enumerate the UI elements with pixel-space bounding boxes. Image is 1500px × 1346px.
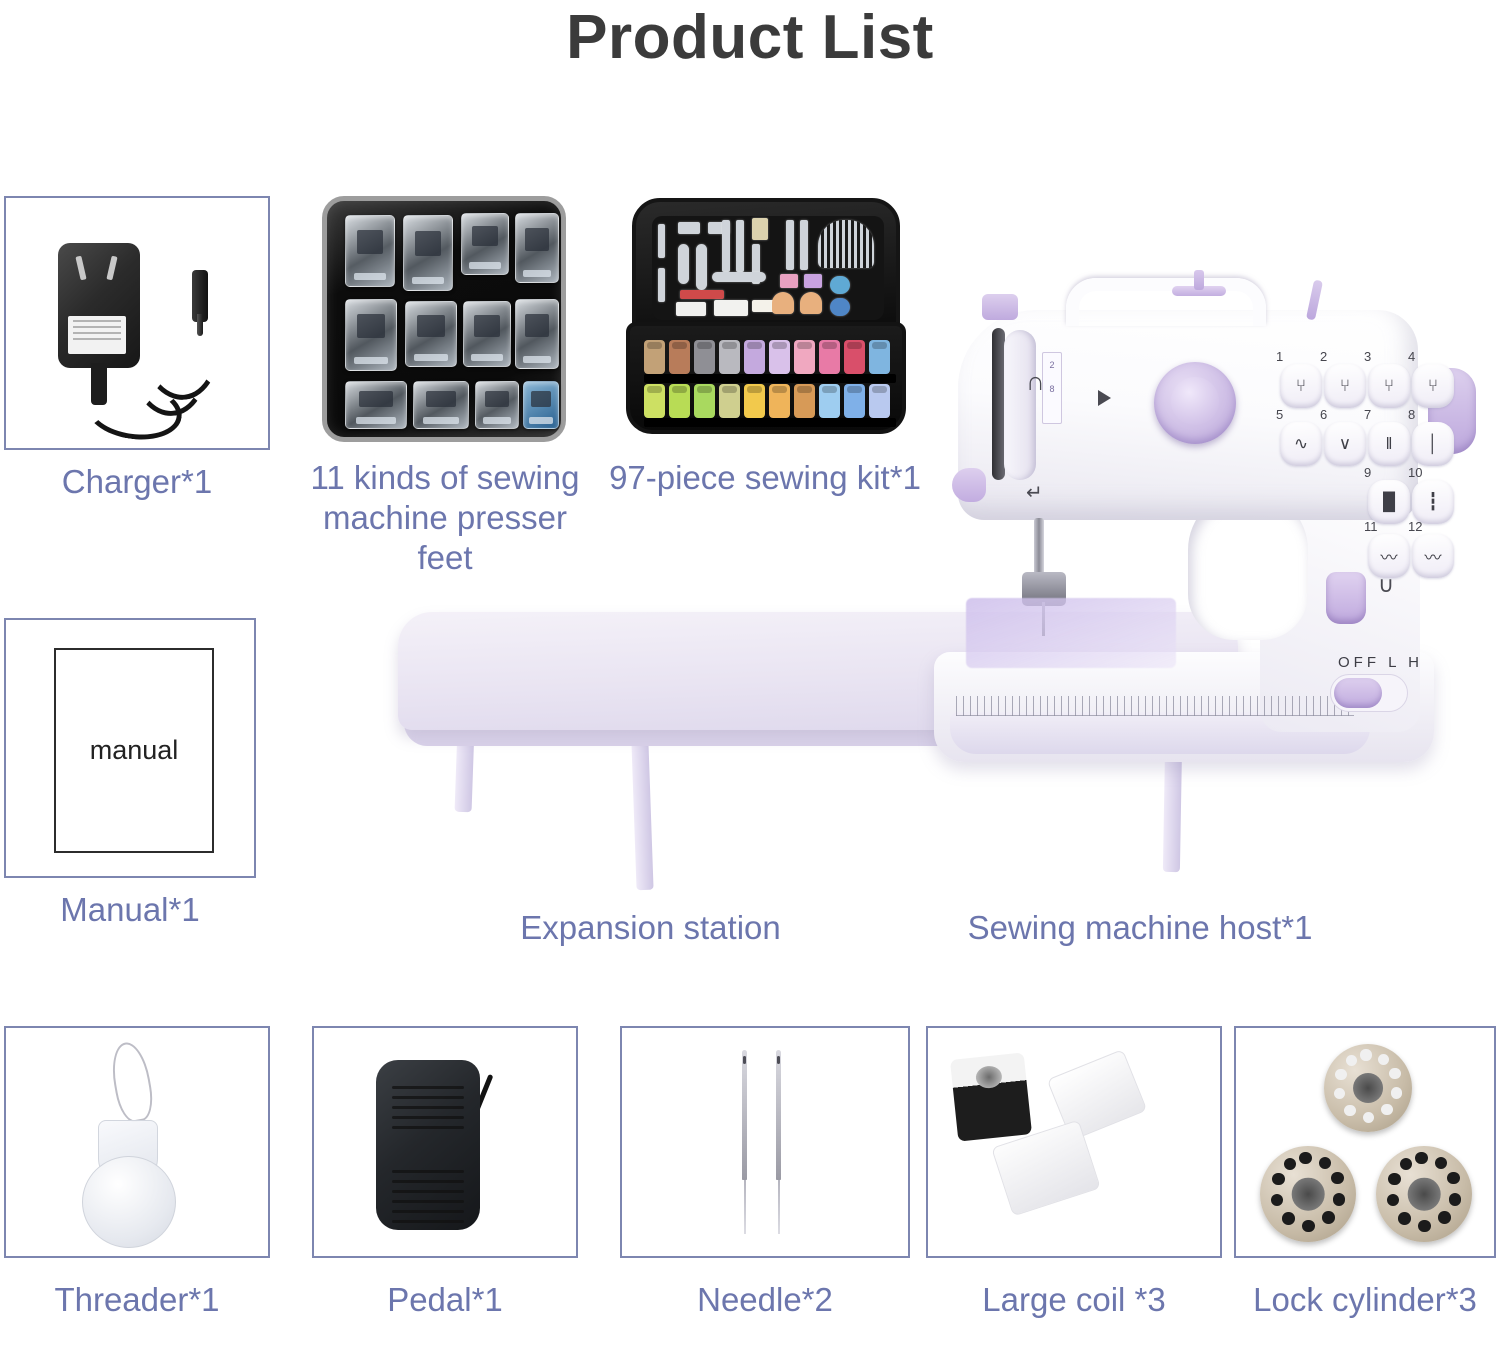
sewing-needle-icon-2 — [776, 1050, 781, 1180]
needle-caption: Needle*2 — [620, 1280, 910, 1320]
thread-spool-icon — [950, 1052, 1032, 1141]
needle-path-icon: ↵ — [1026, 480, 1043, 505]
pedal-image-box — [312, 1026, 578, 1258]
sewing-kit-case-icon — [626, 198, 906, 434]
metal-bobbin-icon-3 — [1376, 1146, 1472, 1242]
charger-caption: Charger*1 — [4, 462, 270, 502]
needle-image-box — [620, 1026, 910, 1258]
presser-feet-caption: 11 kinds of sewing machine presser feet — [300, 458, 590, 578]
threader-caption: Threader*1 — [4, 1280, 270, 1320]
manual-image-box: manual — [4, 618, 256, 878]
metal-bobbin-icon-2 — [1260, 1146, 1356, 1242]
stitch-button-4[interactable]: 4⑂ — [1412, 364, 1454, 408]
stitch-button-7[interactable]: 7‖ — [1368, 422, 1410, 466]
metal-bobbin-icon — [1324, 1044, 1412, 1132]
sewing-kit-caption: 97-piece sewing kit*1 — [590, 458, 940, 498]
kit-lid-tool-panel — [652, 216, 884, 320]
expansion-station-caption: Expansion station — [398, 908, 903, 948]
bobbin-winder-icon[interactable] — [982, 294, 1018, 320]
foot-pedal-icon — [376, 1060, 480, 1230]
tension-scale-value-bottom: 8 — [1043, 377, 1061, 401]
reverse-stitch-lever[interactable] — [1326, 572, 1366, 624]
thread-path-hook-icon: ∩ — [1026, 366, 1045, 397]
stitch-button-9[interactable]: 9█ — [1368, 480, 1410, 524]
stitch-pattern-panel: 1⑂ 2⑂ 3⑂ 4⑂ 5∿ 6∨ 7‖ 8│ 9█ 10┇ 11〰 12〰 — [1276, 348, 1454, 558]
base-ruler-line — [956, 715, 1354, 716]
lock-cylinder-caption: Lock cylinder*3 — [1234, 1280, 1496, 1320]
lock-cylinder-image-box — [1234, 1026, 1496, 1258]
tension-cover — [1004, 330, 1036, 480]
page-title: Product List — [0, 2, 1500, 73]
stitch-button-2[interactable]: 2⑂ — [1324, 364, 1366, 408]
presser-feet-tray-icon — [322, 196, 566, 442]
stitch-button-12[interactable]: 12〰 — [1412, 534, 1454, 578]
coil-image-box — [926, 1026, 1222, 1258]
threader-wire-loop-icon — [107, 1039, 156, 1124]
table-leg-front — [631, 742, 653, 891]
coil-caption: Large coil *3 — [926, 1280, 1222, 1320]
tension-scale-value-top: 2 — [1043, 353, 1061, 377]
needle-threader-icon — [82, 1156, 176, 1248]
manual-inner-text: manual — [90, 735, 179, 766]
carry-handle-icon[interactable] — [1066, 278, 1266, 326]
pedal-caption: Pedal*1 — [312, 1280, 578, 1320]
manual-booklet-icon: manual — [54, 648, 214, 853]
tension-scale: 2 8 — [1042, 352, 1062, 424]
pattern-selector-dial[interactable] — [1154, 362, 1236, 444]
needle-bar — [1034, 518, 1044, 580]
stitch-button-1[interactable]: 1⑂ — [1280, 364, 1322, 408]
kit-base-spool-tray — [626, 322, 906, 434]
base-ruler-ticks — [956, 696, 1354, 716]
reverse-stitch-icon: ∪ — [1378, 572, 1394, 598]
sewing-machine-caption: Sewing machine host*1 — [880, 908, 1400, 948]
presser-foot-lifter-knob[interactable] — [952, 468, 986, 502]
charger-image-box — [4, 196, 270, 450]
stitch-button-3[interactable]: 3⑂ — [1368, 364, 1410, 408]
speed-switch-thumb[interactable] — [1334, 678, 1382, 708]
kit-lid — [632, 198, 900, 334]
pattern-indicator-arrow-icon — [1098, 390, 1111, 406]
sewing-machine-icon: 2 8 ∩ ↵ 1⑂ 2⑂ 3⑂ 4⑂ 5∿ 6∨ 7‖ 8│ 9█ 10┇ 1… — [930, 272, 1470, 817]
spool-pin-icon[interactable] — [1172, 286, 1226, 296]
threader-image-box — [4, 1026, 270, 1258]
stitch-button-6[interactable]: 6∨ — [1324, 422, 1366, 466]
stitch-button-5[interactable]: 5∿ — [1280, 422, 1322, 466]
manual-caption: Manual*1 — [4, 890, 256, 930]
fabric-swatch — [966, 598, 1176, 668]
dc-plug-icon — [192, 270, 208, 322]
adapter-rating-label — [68, 316, 126, 354]
sewing-needle-icon — [742, 1050, 747, 1180]
speed-switch-label: OFF L H — [1338, 654, 1423, 671]
stitch-button-10[interactable]: 10┇ — [1412, 480, 1454, 524]
stitch-button-8[interactable]: 8│ — [1412, 422, 1454, 466]
speed-switch[interactable] — [1330, 674, 1408, 712]
